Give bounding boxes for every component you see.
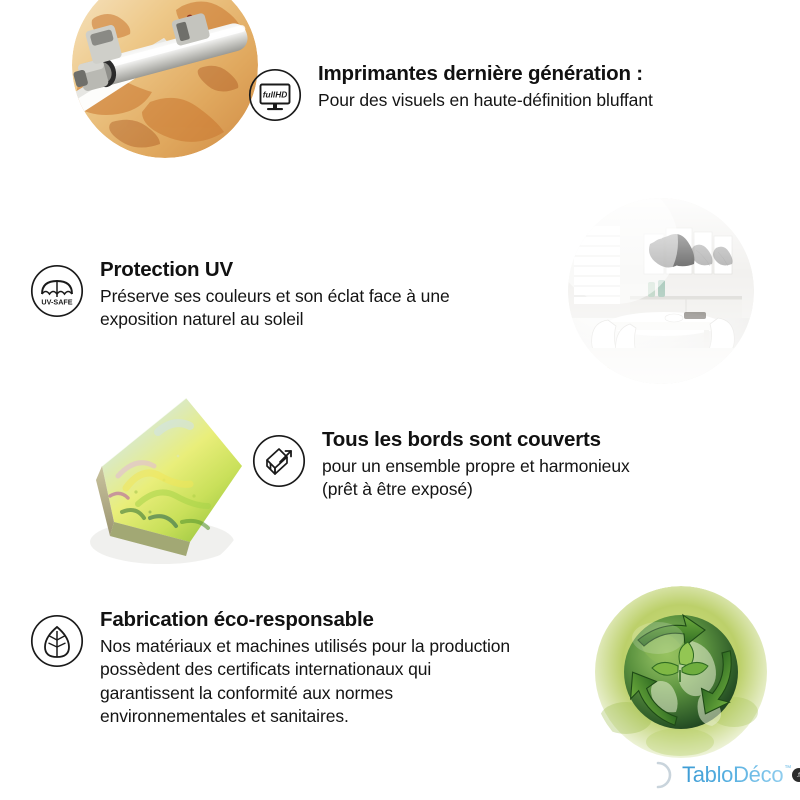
tablodeco-monogram-icon: [645, 758, 679, 792]
green-earth-recycling-photo: [592, 586, 770, 764]
desc-line: Pour des visuels en haute-définition blu…: [318, 89, 778, 112]
feature-edges: Tous les bords sont couverts pour un ens…: [252, 428, 782, 502]
feature-desc: Pour des visuels en haute-définition blu…: [318, 89, 778, 112]
feature-text: Tous les bords sont couverts pour un ens…: [322, 428, 782, 502]
fullhd-monitor-icon: fullHD: [248, 68, 302, 122]
fr-domain-badge: .fr: [792, 768, 800, 782]
leaf-icon: [30, 614, 84, 668]
desc-line: (prêt à être exposé): [322, 478, 782, 501]
trademark-symbol: ™: [784, 765, 791, 772]
feature-title: Fabrication éco-responsable: [100, 608, 590, 632]
brand-wordmark-wrap: TabloDéco ™ .fr: [682, 764, 800, 786]
uv-safe-umbrella-icon: UV-SAFE: [30, 264, 84, 318]
brand-wordmark: TabloDéco: [682, 764, 783, 786]
feature-title: Imprimantes dernière génération :: [318, 62, 778, 86]
feature-text: Imprimantes dernière génération : Pour d…: [318, 62, 778, 112]
fullhd-label: fullHD: [263, 89, 287, 99]
feature-print: fullHD Imprimantes dernière génération :…: [248, 62, 778, 122]
feature-text: Fabrication éco-responsable Nos matériau…: [100, 608, 590, 728]
feature-uv: UV-SAFE Protection UV Préserve ses coule…: [30, 258, 550, 332]
wrapped-canvas-corner-photo: [66, 392, 252, 578]
feature-text: Protection UV Préserve ses couleurs et s…: [100, 258, 550, 332]
desc-line: exposition naturel au soleil: [100, 308, 550, 331]
printer-roller-world-map-photo: [72, 0, 258, 158]
feature-desc: pour un ensemble propre et harmonieux (p…: [322, 455, 782, 502]
infographic-stage: fullHD Imprimantes dernière génération :…: [0, 0, 800, 800]
desc-line: Nos matériaux et machines utilisés pour …: [100, 635, 590, 658]
brand-logo[interactable]: TabloDéco ™ .fr: [645, 755, 795, 795]
feature-eco: Fabrication éco-responsable Nos matériau…: [30, 608, 590, 728]
feature-desc: Préserve ses couleurs et son éclat face …: [100, 285, 550, 332]
sunlit-dining-room-wall-art-photo: [568, 198, 754, 384]
desc-line: Préserve ses couleurs et son éclat face …: [100, 285, 550, 308]
desc-line: possèdent des certificats internationaux…: [100, 658, 590, 681]
canvas-edge-wrap-icon: [252, 434, 306, 488]
feature-title: Protection UV: [100, 258, 550, 282]
desc-line: environnementales et sanitaires.: [100, 705, 590, 728]
desc-line: pour un ensemble propre et harmonieux: [322, 455, 782, 478]
desc-line: garantissent la conformité aux normes: [100, 682, 590, 705]
feature-desc: Nos matériaux et machines utilisés pour …: [100, 635, 590, 728]
feature-title: Tous les bords sont couverts: [322, 428, 782, 452]
uv-safe-label: UV-SAFE: [41, 298, 72, 307]
